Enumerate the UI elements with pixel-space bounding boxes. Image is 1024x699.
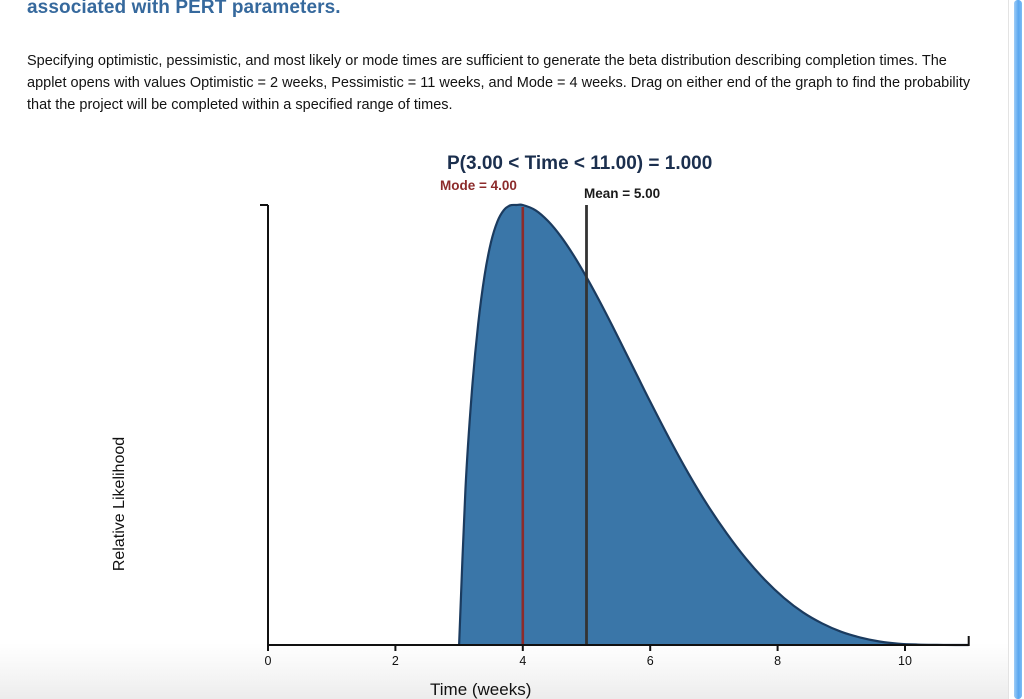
pert-beta-chart[interactable]: P(3.00 < Time < 11.00) = 1.000 Mode = 4.…	[0, 140, 1000, 685]
vertical-scrollbar-track[interactable]	[1008, 0, 1024, 699]
chart-plot-svg[interactable]	[0, 140, 1000, 685]
page-heading: associated with PERT parameters.	[27, 0, 341, 19]
distribution-area-fill[interactable]	[459, 205, 969, 645]
x-axis-label: Time (weeks)	[430, 680, 531, 699]
x-tick-label-8: 8	[763, 654, 793, 668]
scrollbar-thumb-gradient	[1014, 0, 1022, 699]
page-paragraph: Specifying optimistic, pessimistic, and …	[27, 50, 987, 116]
x-tick-label-6: 6	[635, 654, 665, 668]
x-tick-label-10: 10	[890, 654, 920, 668]
x-tick-label-2: 2	[380, 654, 410, 668]
x-tick-label-4: 4	[508, 654, 538, 668]
y-axis-label: Relative Likelihood	[111, 379, 129, 629]
vertical-scrollbar-thumb[interactable]	[1014, 0, 1022, 699]
x-tick-label-0: 0	[253, 654, 283, 668]
page-root: associated with PERT parameters. Specify…	[0, 0, 1024, 699]
